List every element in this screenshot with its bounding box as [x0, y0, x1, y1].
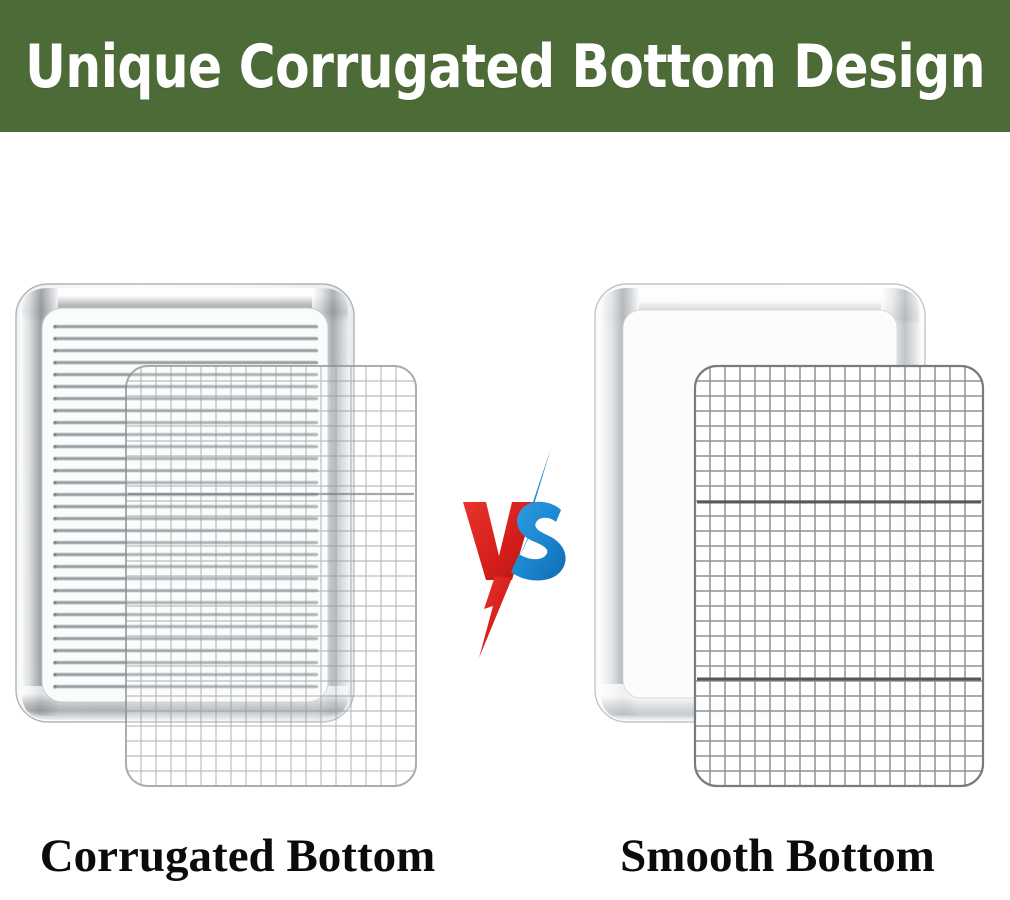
- lightning-spike-bottom: [479, 576, 512, 658]
- smooth-pan-illustration: [585, 270, 1005, 810]
- page-title: Unique Corrugated Bottom Design: [25, 37, 985, 97]
- caption-corrugated-bottom: Corrugated Bottom: [0, 826, 475, 886]
- header-banner: Unique Corrugated Bottom Design: [0, 0, 1010, 132]
- product-comparison-image: Unique Corrugated Bottom Design: [0, 0, 1010, 900]
- corrugated-pan-illustration: [8, 270, 468, 810]
- wire-cooling-rack-right: [695, 366, 983, 786]
- wire-cooling-rack-left: [126, 366, 416, 786]
- vs-separator: VS: [455, 430, 580, 670]
- caption-smooth-bottom: Smooth Bottom: [545, 826, 1010, 886]
